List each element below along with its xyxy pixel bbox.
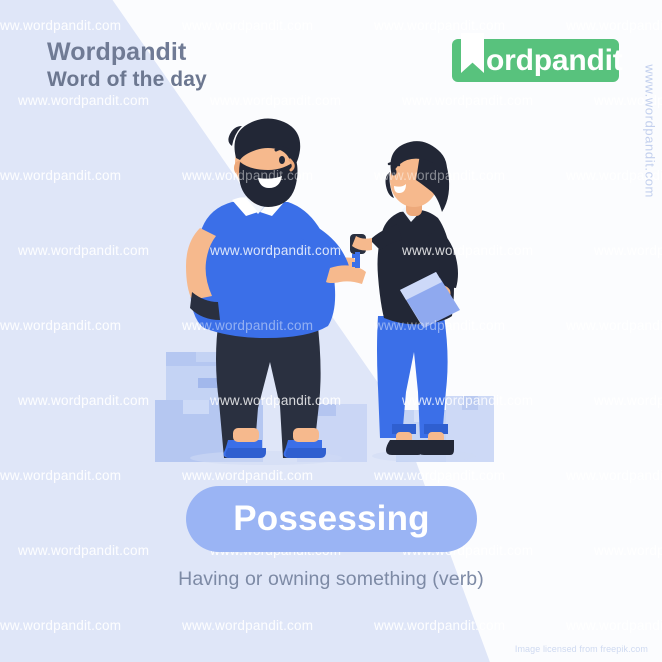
vertical-watermark: www.wordpandit.com: [643, 64, 658, 198]
word-definition: Having or owning something (verb): [0, 568, 662, 591]
logo-text: ordpandit: [486, 39, 623, 82]
header: Wordpandit Word of the day: [47, 38, 207, 92]
brand-title: Wordpandit: [47, 38, 207, 66]
header-tagline: Word of the day: [47, 68, 207, 92]
figure-woman-with-folder: [352, 141, 460, 455]
image-credit: Image licensed from freepik.com: [515, 644, 648, 654]
word-pill: Possessing: [186, 486, 477, 552]
word-of-the-day-image: www.wordpandit.comwww.wordpandit.comwww.…: [0, 0, 662, 662]
word-of-the-day: Possessing: [233, 499, 430, 539]
wordpandit-logo[interactable]: ordpandit: [452, 33, 619, 82]
illustration: [0, 0, 662, 662]
